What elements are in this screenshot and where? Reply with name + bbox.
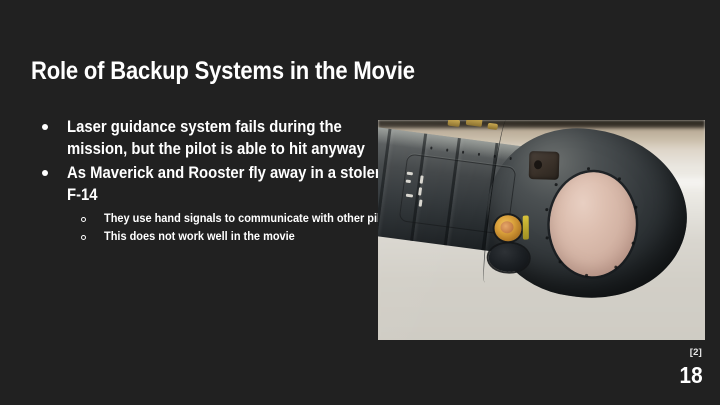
filled-disc-icon: [42, 124, 48, 130]
yellow-accent-strip: [523, 216, 529, 240]
list-item: They use hand signals to communicate wit…: [31, 210, 361, 227]
list-item: Laser guidance system fails during the m…: [31, 116, 361, 160]
lens-ring-rivets: [535, 160, 649, 288]
hollow-circle-icon: [81, 217, 86, 222]
secondary-dark-lens: [488, 243, 529, 272]
bullet-list: Laser guidance system fails during the m…: [31, 116, 361, 247]
gold-laser-optic: [494, 215, 521, 241]
slide-number: 18: [680, 362, 703, 389]
laser-targeting-pod-photo: [378, 120, 705, 340]
targeting-pod: [378, 120, 705, 340]
bullet-text: Laser guidance system fails during the m…: [67, 116, 397, 160]
list-item: This does not work well in the movie: [31, 228, 361, 245]
presentation-slide: Role of Backup Systems in the Movie Lase…: [0, 0, 720, 405]
list-item: As Maverick and Rooster fly away in a st…: [31, 162, 361, 245]
hollow-circle-icon: [81, 235, 86, 240]
sub-bullet-list: They use hand signals to communicate wit…: [31, 210, 361, 245]
filled-disc-icon: [42, 170, 48, 176]
page-title: Role of Backup Systems in the Movie: [31, 57, 401, 86]
bullet-text: As Maverick and Rooster fly away in a st…: [67, 162, 397, 206]
stencil-marks: [401, 172, 450, 221]
citation-marker: [2]: [690, 347, 702, 358]
